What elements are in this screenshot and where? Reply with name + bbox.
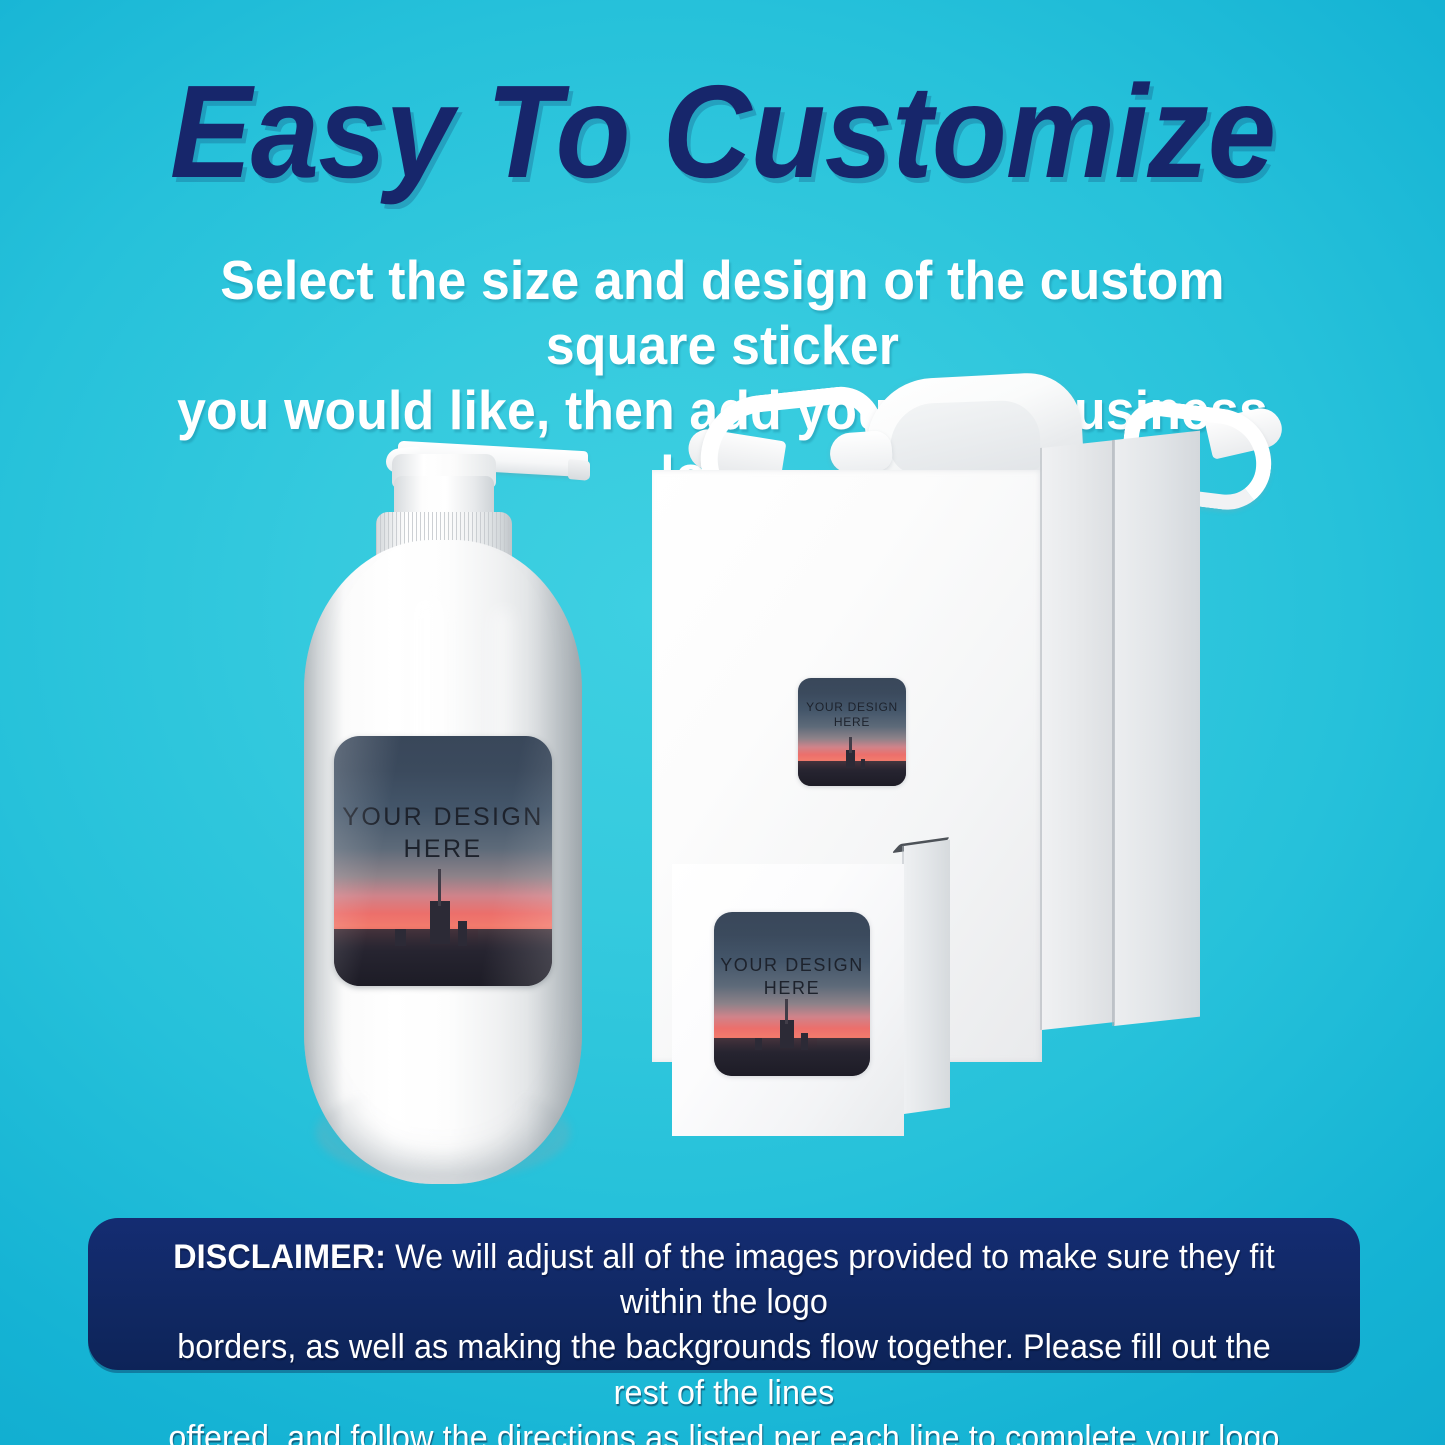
skyline-spire xyxy=(438,869,441,907)
gift-box-seam-front xyxy=(1040,448,1042,1030)
subtitle-line-1: Select the size and design of the custom… xyxy=(220,249,1224,376)
disclaimer-text: DISCLAIMER: We will adjust all of the im… xyxy=(146,1235,1301,1445)
sticker-text-line-2: HERE xyxy=(334,834,552,866)
gift-box-seam-back xyxy=(1112,440,1115,1026)
gift-box-sticker-text: YOUR DESIGN HERE xyxy=(798,700,906,730)
skyline-tower-right xyxy=(458,921,467,946)
cube-box-side-panel xyxy=(904,840,950,1114)
cube-box-sticker-text: YOUR DESIGN HERE xyxy=(714,954,870,999)
soap-bottle-product: YOUR DESIGN HERE xyxy=(282,424,622,1204)
bottle-sticker-text: YOUR DESIGN HERE xyxy=(334,802,552,865)
disclaimer-line-2: borders, as well as making the backgroun… xyxy=(146,1325,1301,1415)
bottle-label-sticker: YOUR DESIGN HERE xyxy=(334,736,552,986)
skyline-tower-main xyxy=(846,750,856,767)
skyline-tower-left xyxy=(395,929,406,947)
bottle-bottom-shading xyxy=(316,1084,570,1180)
pump-nozzle-tip xyxy=(568,459,590,481)
skyline-spire xyxy=(849,737,851,752)
cube-box-sticker: YOUR DESIGN HERE xyxy=(714,912,870,1076)
disclaimer-line-1-rest: We will adjust all of the images provide… xyxy=(386,1238,1275,1321)
ribbon-loop-center-inner xyxy=(889,399,1041,474)
sticker-text-line-2: HERE xyxy=(798,715,906,730)
gift-box-lid-line xyxy=(652,528,1042,530)
skyline-tower-right xyxy=(801,1033,807,1049)
disclaimer-label: DISCLAIMER: xyxy=(173,1238,386,1276)
sticker-text-line-1: YOUR DESIGN xyxy=(334,802,552,834)
disclaimer-banner: DISCLAIMER: We will adjust all of the im… xyxy=(88,1218,1360,1370)
gift-box-back-panel xyxy=(1114,431,1200,1026)
product-box-small: YOUR DESIGN HERE xyxy=(672,858,962,1143)
product-marketing-image: Easy To Customize Select the size and de… xyxy=(0,0,1445,1445)
skyline-tower-left xyxy=(755,1038,763,1049)
gift-box-sticker: YOUR DESIGN HERE xyxy=(798,678,906,786)
sticker-text-line-2: HERE xyxy=(714,977,870,1000)
page-title: Easy To Customize xyxy=(51,62,1395,202)
skyline-tower-main xyxy=(780,1020,794,1048)
skyline-spire xyxy=(785,999,788,1024)
gift-box-side-panel xyxy=(1042,440,1114,1030)
skyline-tower-right xyxy=(861,759,865,769)
ribbon-knot xyxy=(829,430,894,474)
disclaimer-line-1: DISCLAIMER: We will adjust all of the im… xyxy=(146,1235,1301,1325)
skyline-tower-main xyxy=(430,901,450,944)
sticker-text-line-1: YOUR DESIGN xyxy=(798,700,906,715)
sticker-text-line-1: YOUR DESIGN xyxy=(714,954,870,977)
disclaimer-line-3: offered, and follow the directions as li… xyxy=(146,1416,1301,1445)
